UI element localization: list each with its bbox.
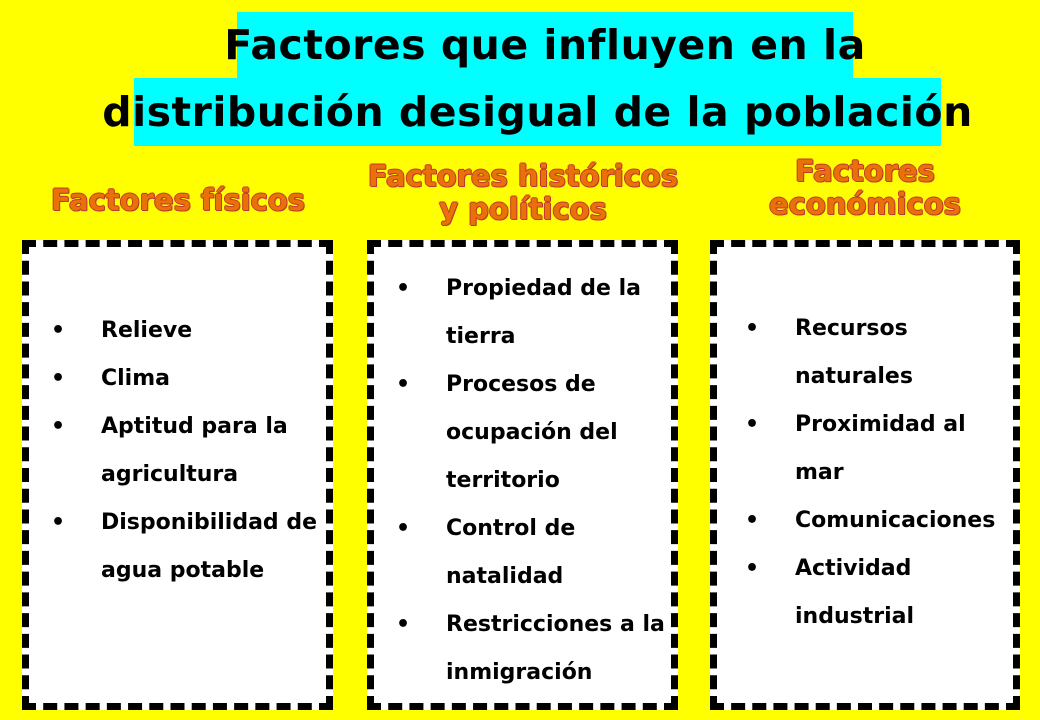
list-item-label: Relieve [101,318,192,343]
factor-list-economicos: • Recursos naturales • Proximidad al mar… [717,305,1013,641]
list-item: • Procesos de ocupación del territorio [374,361,671,505]
column-heading-economicos: Factores económicos [710,155,1020,221]
bullet-icon: • [51,403,65,451]
list-item-label: Control de natalidad [446,516,575,589]
bullet-icon: • [745,497,759,545]
bullet-icon: • [51,355,65,403]
list-item: • Comunicaciones [717,497,1013,545]
bullet-icon: • [745,401,759,449]
bullet-icon: • [396,265,410,313]
factor-box-fisicos: • Relieve • Clima • Aptitud para la agri… [22,240,333,710]
list-item-label: Propiedad de la tierra [446,276,641,349]
bullet-icon: • [51,499,65,547]
list-item-label: Disponibilidad de agua potable [101,510,317,583]
list-item-label: Aptitud para la agricultura [101,414,288,487]
list-item: • Clima [29,355,326,403]
factor-box-economicos: • Recursos naturales • Proximidad al mar… [710,240,1020,710]
list-item: • Recursos naturales [717,305,1013,401]
list-item-label: Restricciones a la inmigración [446,612,665,685]
bullet-icon: • [396,601,410,649]
list-item: • Disponibilidad de agua potable [29,499,326,595]
factor-list-fisicos: • Relieve • Clima • Aptitud para la agri… [29,307,326,595]
list-item: • Propiedad de la tierra [374,265,671,361]
column-heading-historicos: Factores históricos y políticos [367,160,679,226]
factor-box-historicos: • Propiedad de la tierra • Procesos de o… [367,240,678,710]
bullet-icon: • [51,307,65,355]
bullet-icon: • [396,505,410,553]
list-item: • Relieve [29,307,326,355]
list-item-label: Procesos de ocupación del territorio [446,372,618,493]
title-line-2: distribución desigual de la población [134,78,941,146]
list-item: • Actividad industrial [717,545,1013,641]
list-item-label: Clima [101,366,170,391]
factor-list-historicos: • Propiedad de la tierra • Procesos de o… [374,265,671,697]
title-block: Factores que influyen en la distribución… [0,0,1040,150]
bullet-icon: • [396,361,410,409]
list-item-label: Recursos naturales [795,316,913,389]
list-item: • Control de natalidad [374,505,671,601]
bullet-icon: • [745,545,759,593]
list-item-label: Proximidad al mar [795,412,966,485]
list-item: • Restricciones a la inmigración [374,601,671,697]
bullet-icon: • [745,305,759,353]
list-item: • Proximidad al mar [717,401,1013,497]
list-item: • Aptitud para la agricultura [29,403,326,499]
column-heading-fisicos: Factores físicos [22,184,334,217]
list-item-label: Comunicaciones [795,508,995,533]
title-line-1: Factores que influyen en la [237,12,853,78]
list-item-label: Actividad industrial [795,556,914,629]
